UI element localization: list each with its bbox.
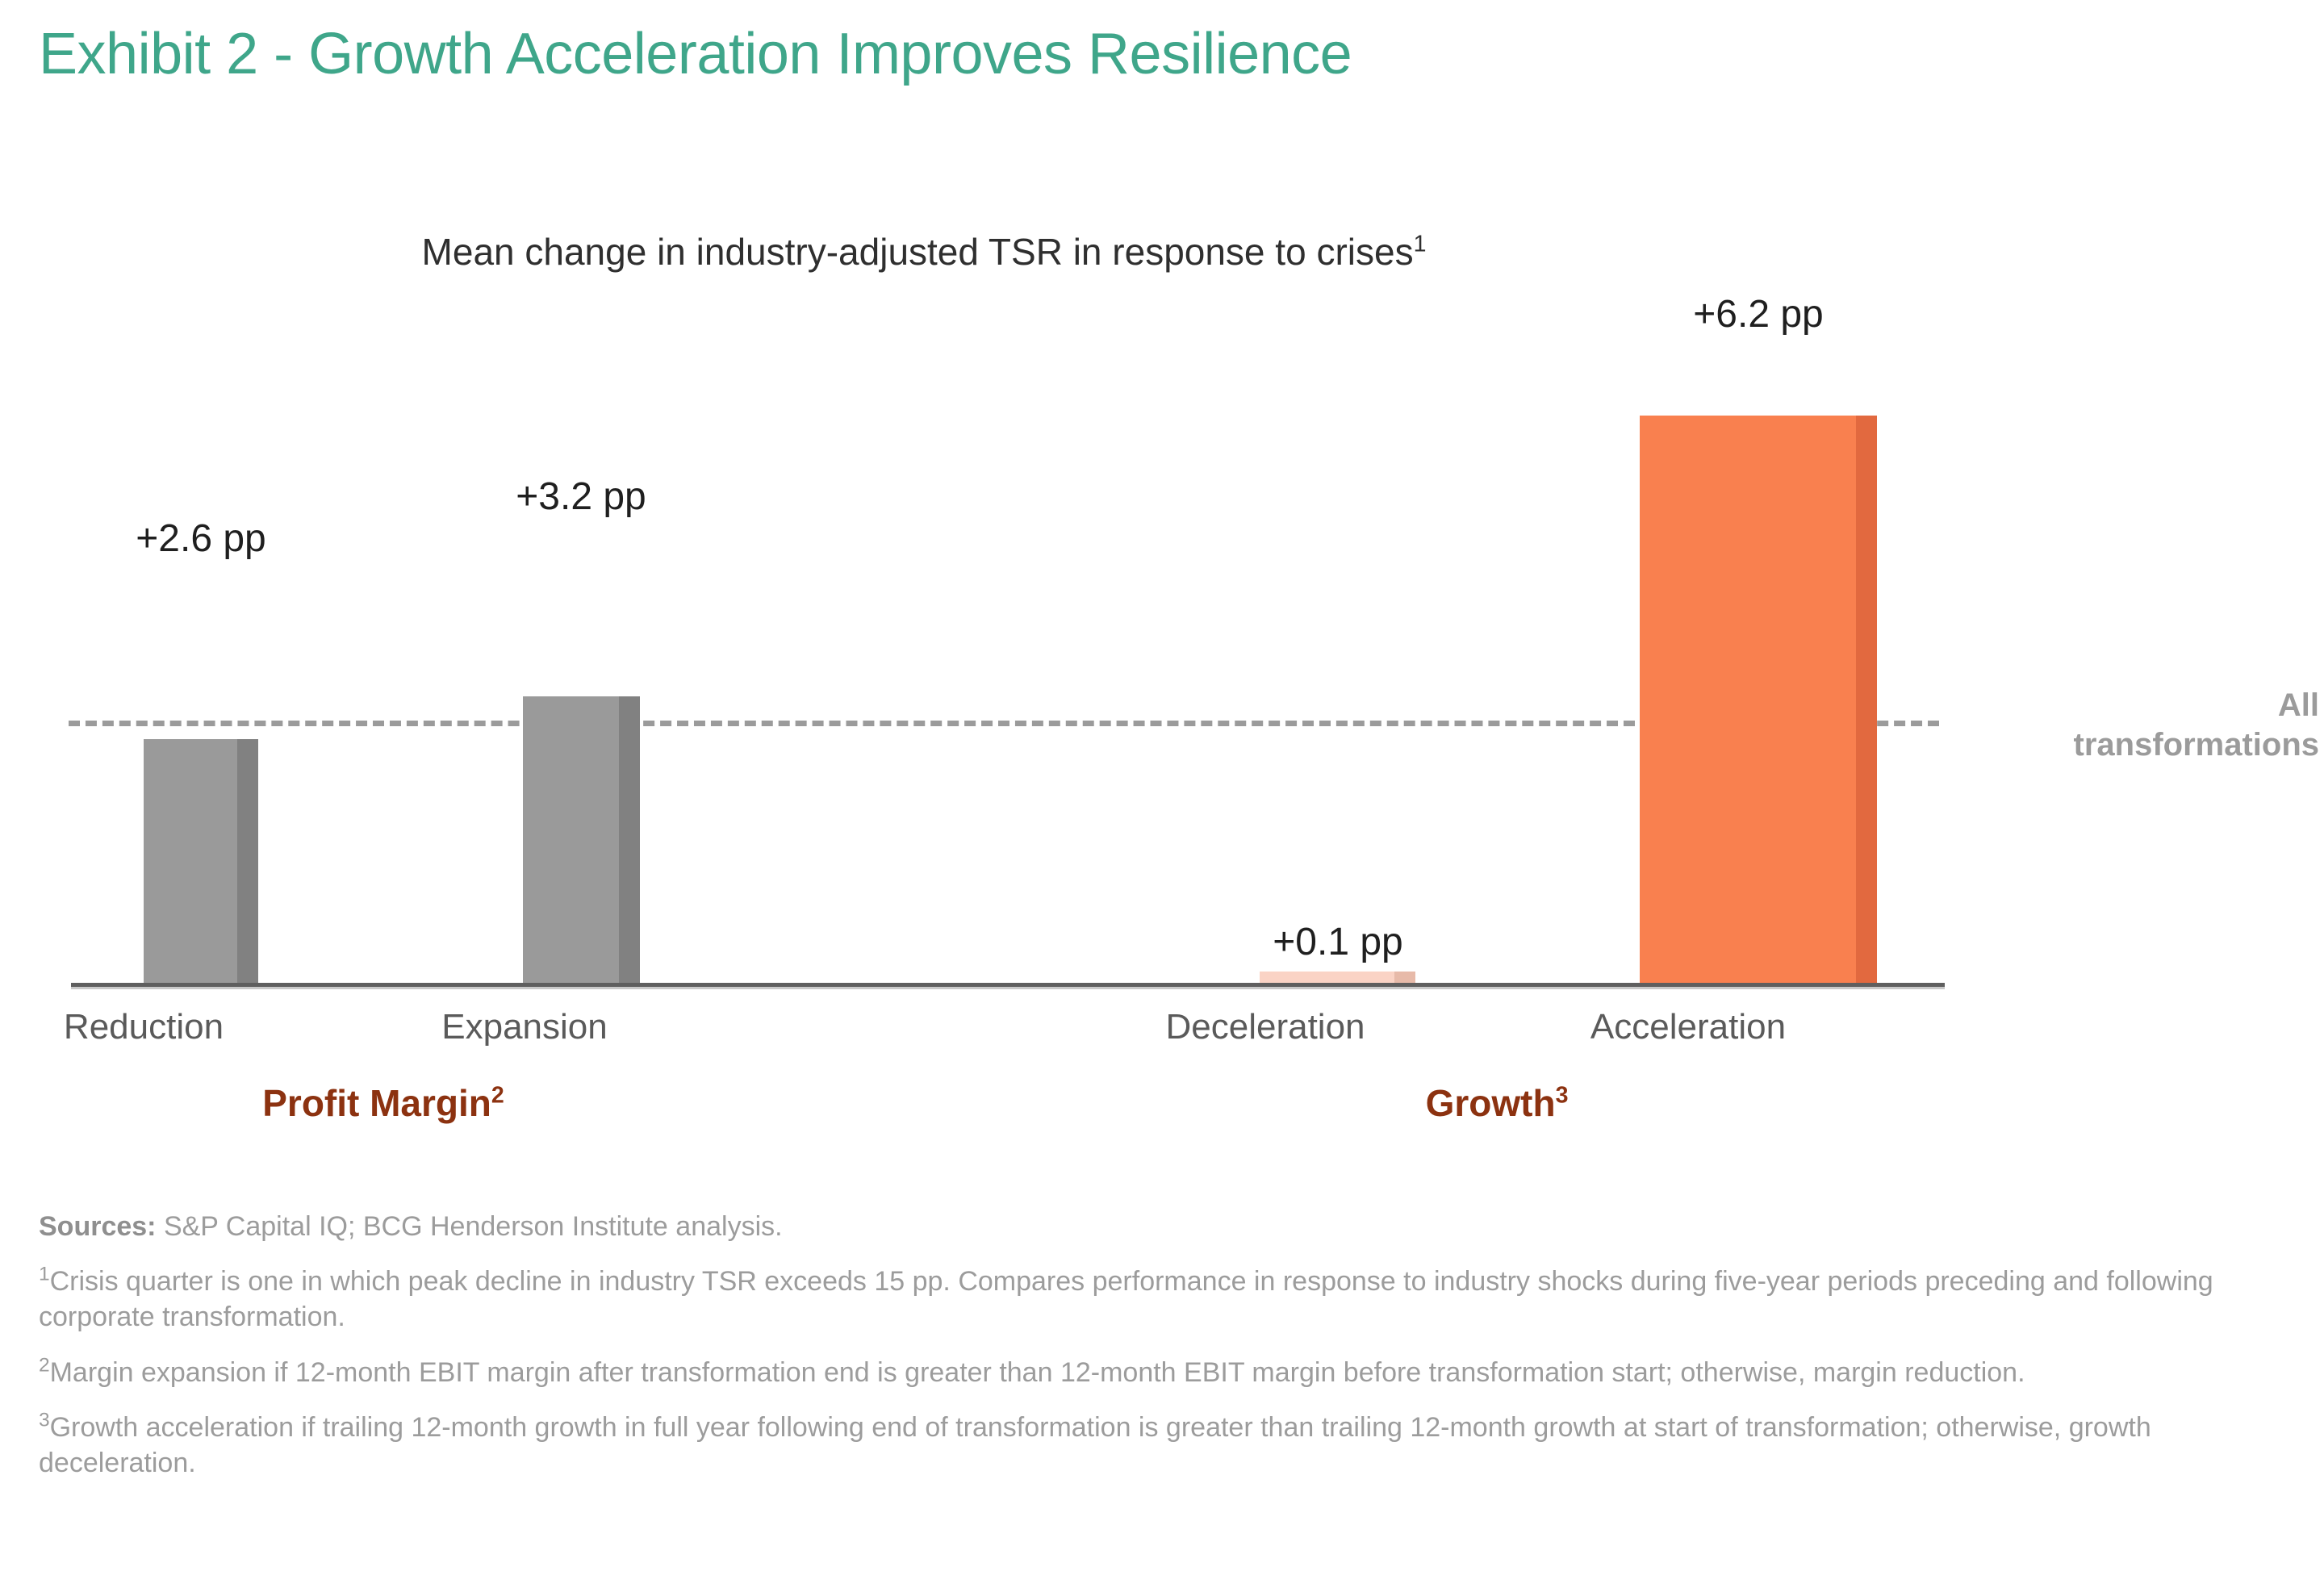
footnote-2: 2Margin expansion if 12-month EBIT margi…	[39, 1355, 2290, 1390]
bar-label-expansion: +3.2 pp	[436, 474, 726, 519]
group-label-growth: Growth3	[1255, 1081, 1739, 1125]
category-label-reduction: Reduction	[0, 1007, 289, 1047]
bar-label-deceleration: +0.1 pp	[1193, 920, 1483, 964]
chart-subtitle-text: Mean change in industry-adjusted TSR in …	[422, 231, 1414, 273]
group-label-growth-text: Growth	[1426, 1082, 1556, 1124]
footnote-1-marker: 1	[39, 1264, 50, 1285]
footnote-3-marker: 3	[39, 1409, 50, 1431]
bar-reduction[interactable]	[144, 739, 258, 984]
reference-line-label: All transformations	[1904, 686, 2324, 765]
bar-acceleration-edge	[1856, 416, 1877, 984]
group-label-profit-margin: Profit Margin2	[141, 1081, 625, 1125]
footnote-1: 1Crisis quarter is one in which peak dec…	[39, 1264, 2290, 1335]
group-label-profit-margin-text: Profit Margin	[262, 1082, 491, 1124]
footnote-2-marker: 2	[39, 1354, 50, 1376]
plot-area: +2.6 pp +3.2 pp +0.1 pp +6.2 pp	[71, 323, 1945, 984]
bar-acceleration[interactable]	[1640, 416, 1877, 984]
bar-reduction-edge	[237, 739, 258, 984]
category-label-acceleration: Acceleration	[1543, 1007, 1833, 1047]
bar-expansion[interactable]	[523, 696, 640, 984]
footnote-sources-text: S&P Capital IQ; BCG Henderson Institute …	[157, 1211, 783, 1242]
footnote-1-text: Crisis quarter is one in which peak decl…	[39, 1266, 2213, 1332]
bar-label-acceleration: +6.2 pp	[1613, 292, 1904, 336]
footnote-2-text: Margin expansion if 12-month EBIT margin…	[50, 1357, 2025, 1388]
category-label-deceleration: Deceleration	[1120, 1007, 1411, 1047]
chart-subtitle: Mean change in industry-adjusted TSR in …	[0, 230, 1848, 274]
group-label-profit-margin-footnote-marker: 2	[491, 1083, 504, 1109]
footnote-sources: Sources: S&P Capital IQ; BCG Henderson I…	[39, 1209, 2290, 1244]
bar-chart: Mean change in industry-adjusted TSR in …	[0, 0, 2324, 1162]
category-label-expansion: Expansion	[379, 1007, 670, 1047]
x-axis-line	[71, 983, 1945, 987]
reference-line-label-line2: transformations	[1904, 725, 2319, 765]
footnote-3-text: Growth acceleration if trailing 12-month…	[39, 1412, 2151, 1478]
group-label-growth-footnote-marker: 3	[1556, 1083, 1569, 1109]
reference-line-label-line1: All	[1904, 686, 2319, 725]
chart-subtitle-footnote-marker: 1	[1414, 232, 1427, 257]
footnotes: Sources: S&P Capital IQ; BCG Henderson I…	[39, 1209, 2290, 1481]
bar-expansion-edge	[619, 696, 640, 984]
bar-label-reduction: +2.6 pp	[56, 516, 346, 561]
footnote-3: 3Growth acceleration if trailing 12-mont…	[39, 1410, 2290, 1481]
footnote-sources-label: Sources:	[39, 1211, 157, 1242]
bar-acceleration-body	[1640, 416, 1877, 984]
